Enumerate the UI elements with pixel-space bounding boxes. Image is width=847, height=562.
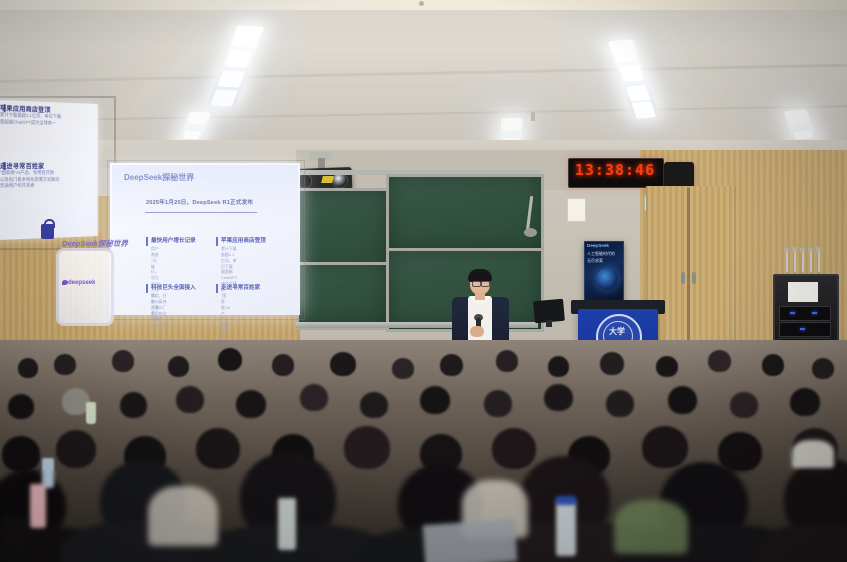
deepseek-whale-icon: [62, 280, 68, 285]
audience-head: [708, 350, 731, 372]
audience-head: [484, 390, 512, 417]
water-bottle: [86, 402, 96, 424]
lock-icon: [41, 224, 54, 239]
rack-unit: [779, 322, 831, 337]
microphone-head: [792, 247, 797, 252]
slide-block-body: 微软、谷歌、英伟达等众厂 商密布全面接入DeepSeek: [151, 293, 169, 328]
microphone-head: [816, 247, 821, 252]
bullet-marker: [216, 237, 218, 246]
microphone-head: [784, 247, 789, 252]
left-screen-body-3: "国家级"AI产品，免费且开放 以及低门槛本地化部署方式触达 普通用户和开发者: [0, 170, 60, 190]
water-bottle: [278, 498, 296, 550]
audience-head: [790, 388, 820, 416]
microphone-holder: [786, 250, 788, 272]
door-handle[interactable]: [692, 272, 696, 284]
microphone-holder: [802, 250, 804, 272]
audience-head: [112, 350, 134, 372]
poster-line-1: 人工智能时代的: [587, 251, 615, 257]
audience-head: [330, 352, 356, 376]
rack-unit: [779, 306, 831, 321]
bullet-marker: [146, 237, 148, 246]
audience-head: [548, 356, 569, 377]
audience-head: [18, 358, 38, 378]
lecture-hall-photo: 苹果应用商店登顶 累计下载量超1.1亿次，单日下载 量超越ChatGPT成为全球…: [0, 0, 847, 562]
audience-head: [300, 384, 328, 411]
left-screen-heading-3: 走进寻常百姓家: [0, 160, 44, 170]
audience-head: [420, 386, 450, 414]
audience-head: [218, 348, 242, 371]
rack-notice-paper: [788, 282, 818, 302]
audience-head: [496, 350, 518, 372]
ceiling-sprinkler: [531, 112, 535, 121]
audience-head: [54, 354, 76, 375]
audience-green-sweater: [614, 500, 688, 554]
audience-light-jacket: [148, 486, 218, 546]
eyeglasses-lens: [472, 281, 481, 287]
microphone-head: [800, 247, 805, 252]
audience-head: [2, 436, 40, 472]
audience-head: [600, 352, 624, 375]
thermos-bottle: [30, 484, 46, 528]
microphone-holder: [810, 250, 812, 272]
ceiling-sprinkler: [419, 1, 424, 6]
poster-orb-graphic: [596, 268, 618, 290]
monitor-stand: [546, 320, 552, 327]
audience-head: [440, 354, 463, 376]
presenter-hand: [470, 326, 484, 337]
microphone-holder: [794, 250, 796, 272]
audience-head: [8, 394, 34, 419]
audience-head: [642, 426, 688, 468]
phone-mockup: [56, 248, 114, 326]
slide-divider: [145, 212, 257, 213]
water-bottle: [556, 500, 576, 556]
chalkboard-panel: [296, 262, 390, 330]
audience-head: [762, 354, 784, 376]
door-seam: [687, 188, 690, 356]
audience-head: [196, 428, 240, 469]
microphone-head: [808, 247, 813, 252]
audience-head: [668, 386, 697, 414]
slide-block-heading: 最快用户增长记录: [151, 236, 196, 244]
left-screen-body-1: 累计下载量超1.1亿次，单日下载 量超越ChatGPT成为全球第一: [0, 112, 61, 127]
slide-header: 2025年1月20日，DeepSeek R1正式发布: [146, 198, 253, 206]
rack-indicator-led: [812, 312, 817, 314]
audience-head: [168, 356, 189, 377]
boom-microphone-head: [524, 228, 537, 237]
bullet-marker: [216, 284, 218, 293]
chalkboard-panel: [386, 174, 544, 256]
audience-head: [236, 390, 266, 418]
audience-head: [56, 430, 96, 468]
audience-head: [492, 428, 536, 469]
bottle-cap: [556, 496, 576, 505]
poster-line-2: 无尽求索: [587, 258, 603, 264]
slide-block-heading: 苹果应用商店登顶: [221, 236, 266, 244]
clock-time: 13:38:46: [572, 161, 658, 179]
audience-head: [656, 356, 678, 377]
door-handle[interactable]: [681, 272, 685, 284]
audience-head: [272, 354, 294, 376]
audience-head: [730, 392, 758, 418]
slide-ghost-title: DeepSeek探秘世界: [124, 172, 194, 183]
thermos-bottle: [2, 516, 28, 562]
double-door[interactable]: [646, 186, 736, 358]
audience-white-cap: [792, 440, 834, 468]
bullet-marker: [146, 284, 148, 293]
rack-indicator-led: [800, 328, 805, 330]
audience-head: [544, 384, 573, 411]
microphone-holder: [818, 250, 820, 272]
audience-head: [360, 392, 388, 418]
audience-head: [606, 390, 634, 417]
audience-head: [120, 392, 147, 418]
audience-head: [344, 426, 390, 469]
audience-head: [812, 358, 834, 379]
rack-indicator-led: [790, 312, 795, 314]
eyeglasses-lens: [481, 281, 490, 287]
deepseek-logo: deepseek: [68, 280, 95, 286]
slide-block-heading: 走进寻常百姓家: [221, 283, 260, 291]
university-seal-glyph: 大学: [603, 326, 631, 337]
projector-label: [321, 176, 334, 183]
audience-head: [392, 358, 414, 379]
wall-notice: [567, 198, 586, 222]
audience: [0, 340, 847, 562]
laptop-screen: [423, 519, 518, 562]
poster-brand: DeepSeek: [587, 243, 609, 248]
slide-block-heading: 科技巨头全面接入: [151, 283, 196, 291]
audience-head: [176, 386, 204, 413]
